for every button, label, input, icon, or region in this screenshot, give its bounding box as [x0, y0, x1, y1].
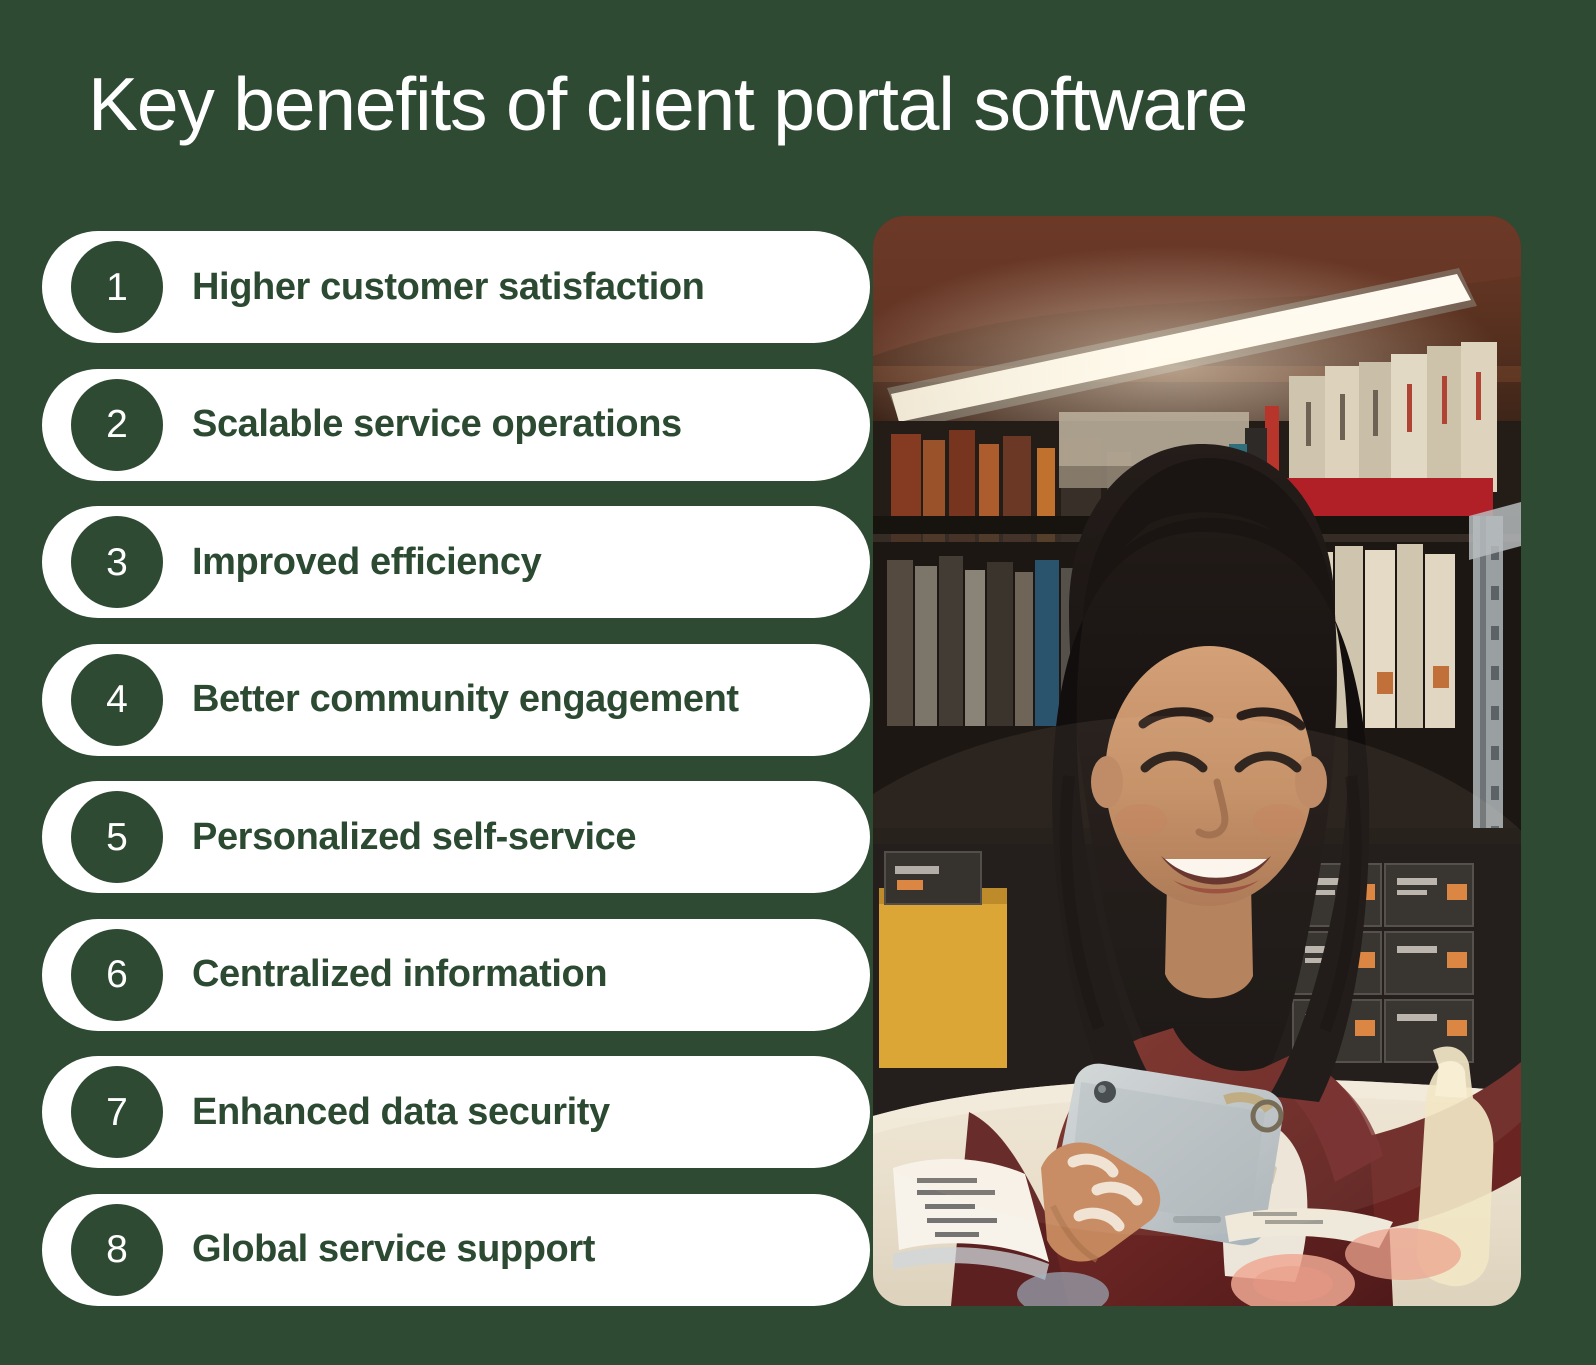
benefit-number-badge: 4: [71, 654, 163, 746]
benefit-label: Centralized information: [192, 953, 607, 996]
hero-photo: [873, 216, 1521, 1306]
benefit-number-badge: 5: [71, 791, 163, 883]
benefit-number-badge: 1: [71, 241, 163, 333]
infographic-poster: Key benefits of client portal software 1…: [0, 0, 1596, 1365]
benefits-list: 1 Higher customer satisfaction 2 Scalabl…: [42, 231, 870, 1306]
benefit-label: Global service support: [192, 1228, 595, 1271]
benefit-label: Better community engagement: [192, 678, 739, 721]
benefit-number-badge: 6: [71, 929, 163, 1021]
benefit-card-7[interactable]: 7 Enhanced data security: [42, 1056, 870, 1168]
benefit-number-badge: 7: [71, 1066, 163, 1158]
benefit-number-badge: 8: [71, 1204, 163, 1296]
hero-photo-illustration: [873, 216, 1521, 1306]
page-title: Key benefits of client portal software: [88, 58, 1508, 150]
benefit-label: Scalable service operations: [192, 403, 682, 446]
benefit-card-6[interactable]: 6 Centralized information: [42, 919, 870, 1031]
benefit-card-5[interactable]: 5 Personalized self-service: [42, 781, 870, 893]
benefit-card-8[interactable]: 8 Global service support: [42, 1194, 870, 1306]
benefit-card-4[interactable]: 4 Better community engagement: [42, 644, 870, 756]
benefit-number-badge: 2: [71, 379, 163, 471]
benefit-label: Enhanced data security: [192, 1091, 610, 1134]
benefit-card-2[interactable]: 2 Scalable service operations: [42, 369, 870, 481]
benefit-number-badge: 3: [71, 516, 163, 608]
benefit-card-1[interactable]: 1 Higher customer satisfaction: [42, 231, 870, 343]
benefit-label: Personalized self-service: [192, 816, 636, 859]
benefit-card-3[interactable]: 3 Improved efficiency: [42, 506, 870, 618]
benefit-label: Higher customer satisfaction: [192, 266, 705, 309]
benefit-label: Improved efficiency: [192, 541, 541, 584]
